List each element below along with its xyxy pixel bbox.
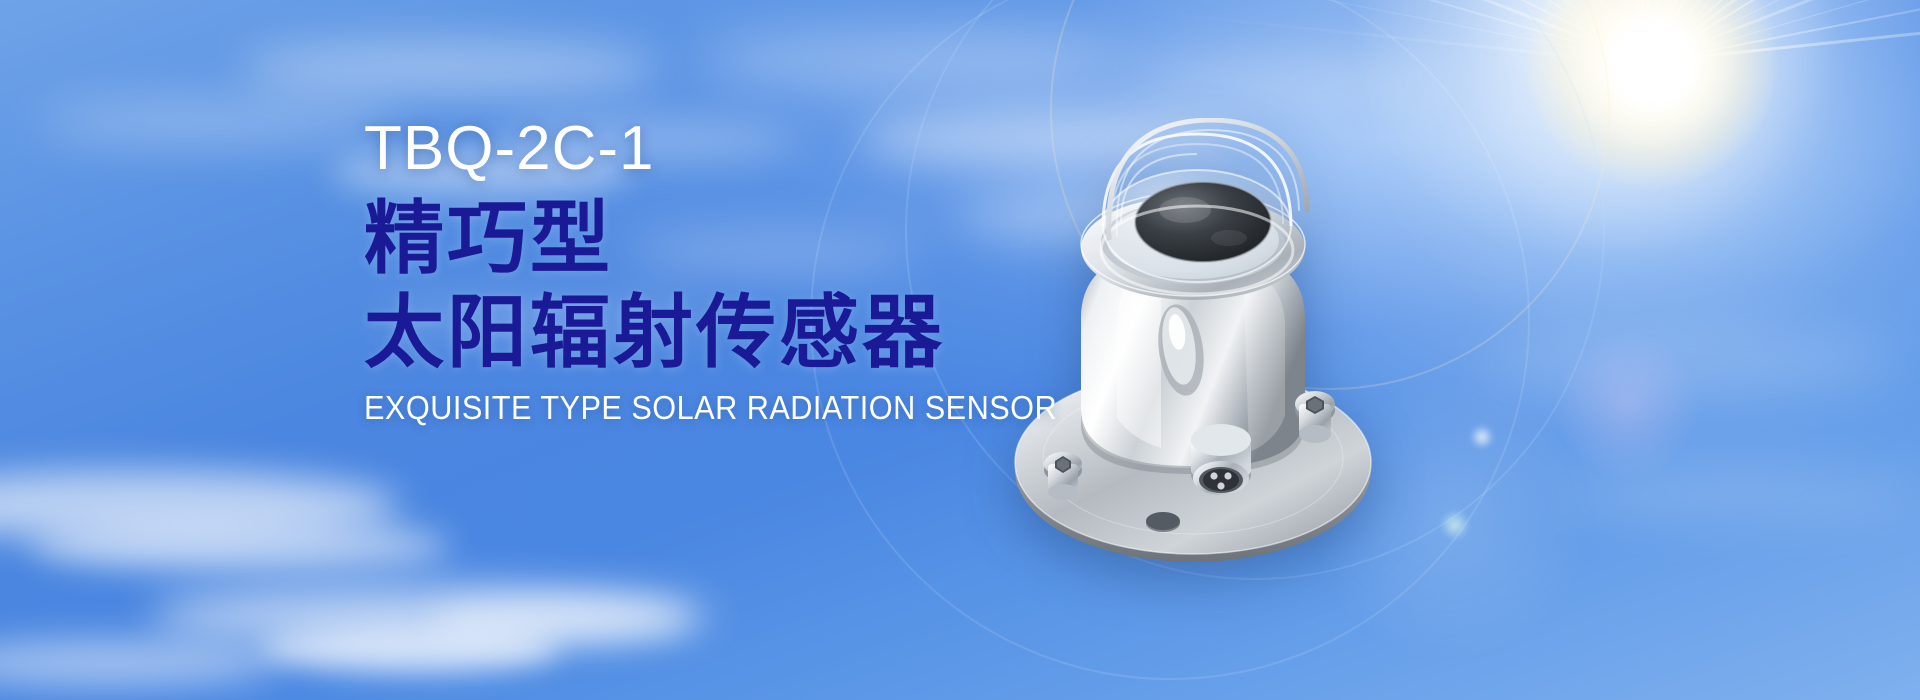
m12-connector [1191,424,1251,495]
pyranometer-icon [985,118,1405,598]
cloud-wisp [150,585,710,645]
hex-screw-right [1295,391,1335,443]
product-banner: TBQ-2C-1 精巧型 太阳辐射传感器 EXQUISITE TYPE SOLA… [0,0,1920,700]
cloud-wisp [0,470,400,540]
banner-text-block: TBQ-2C-1 精巧型 太阳辐射传感器 EXQUISITE TYPE SOLA… [364,118,1004,427]
cloud-wisp [260,625,560,673]
cloud-wisp [430,600,690,640]
cloud-wisp [240,40,660,96]
title-cn-line1: 精巧型 [364,198,1004,280]
title-cn-line2: 太阳辐射传感器 [364,292,1004,374]
cloud-wisp [40,100,400,144]
subtitle-en: EXQUISITE TYPE SOLAR RADIATION SENSOR [364,389,959,427]
model-number: TBQ-2C-1 [364,118,1004,180]
hex-screw-left [1044,452,1082,500]
cloud-wisp [30,520,450,572]
cloud-wisp [0,640,280,686]
